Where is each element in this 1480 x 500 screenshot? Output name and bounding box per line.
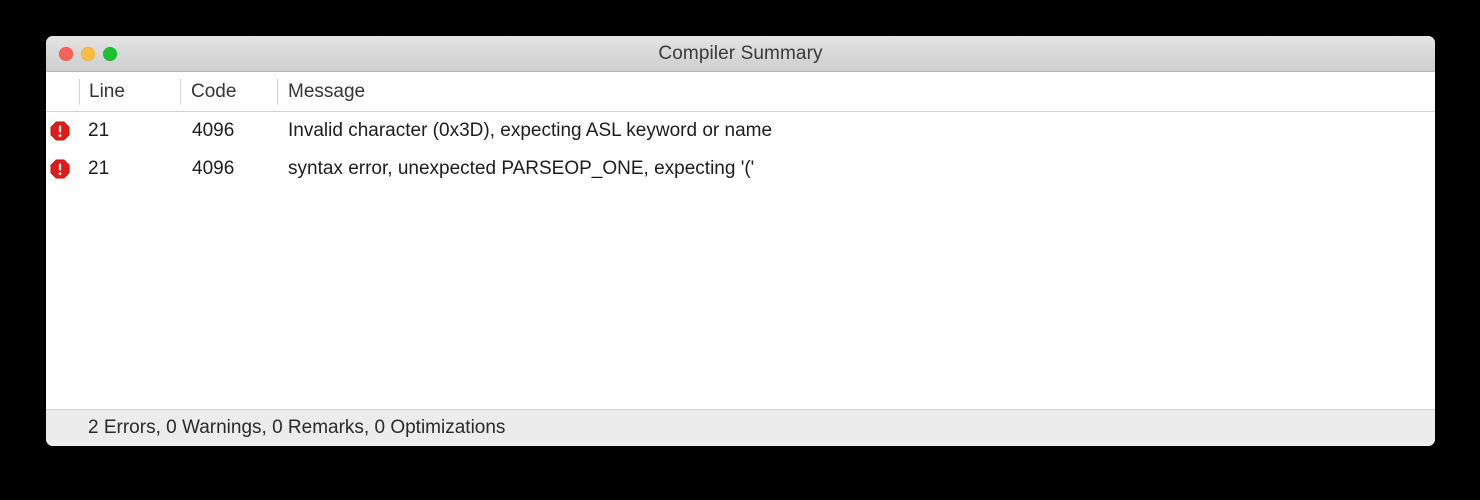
status-summary: 2 Errors, 0 Warnings, 0 Remarks, 0 Optim… (88, 410, 505, 446)
diagnostics-list[interactable]: 21 4096 Invalid character (0x3D), expect… (46, 112, 1435, 409)
window-titlebar[interactable]: Compiler Summary (46, 36, 1435, 72)
cell-line: 21 (88, 150, 109, 188)
table-row[interactable]: 21 4096 Invalid character (0x3D), expect… (46, 112, 1435, 150)
compiler-summary-window: Compiler Summary Line Code Message (46, 36, 1435, 446)
cell-code: 4096 (192, 112, 234, 150)
cell-line: 21 (88, 112, 109, 150)
cell-message: syntax error, unexpected PARSEOP_ONE, ex… (288, 150, 754, 188)
column-header-code[interactable]: Code (191, 72, 236, 111)
column-header-line[interactable]: Line (89, 72, 125, 111)
table-header: Line Code Message (46, 72, 1435, 112)
column-divider-1[interactable] (180, 79, 181, 105)
cell-code: 4096 (192, 150, 234, 188)
cell-message: Invalid character (0x3D), expecting ASL … (288, 112, 772, 150)
desktop-background: Compiler Summary Line Code Message (0, 0, 1480, 500)
status-bar: 2 Errors, 0 Warnings, 0 Remarks, 0 Optim… (46, 409, 1435, 446)
column-divider-2[interactable] (277, 79, 278, 105)
column-divider-0 (79, 79, 80, 105)
window-title: Compiler Summary (46, 36, 1435, 72)
error-octagon-icon (50, 159, 72, 179)
table-row[interactable]: 21 4096 syntax error, unexpected PARSEOP… (46, 150, 1435, 188)
column-header-message[interactable]: Message (288, 72, 365, 111)
error-octagon-icon (50, 121, 72, 141)
